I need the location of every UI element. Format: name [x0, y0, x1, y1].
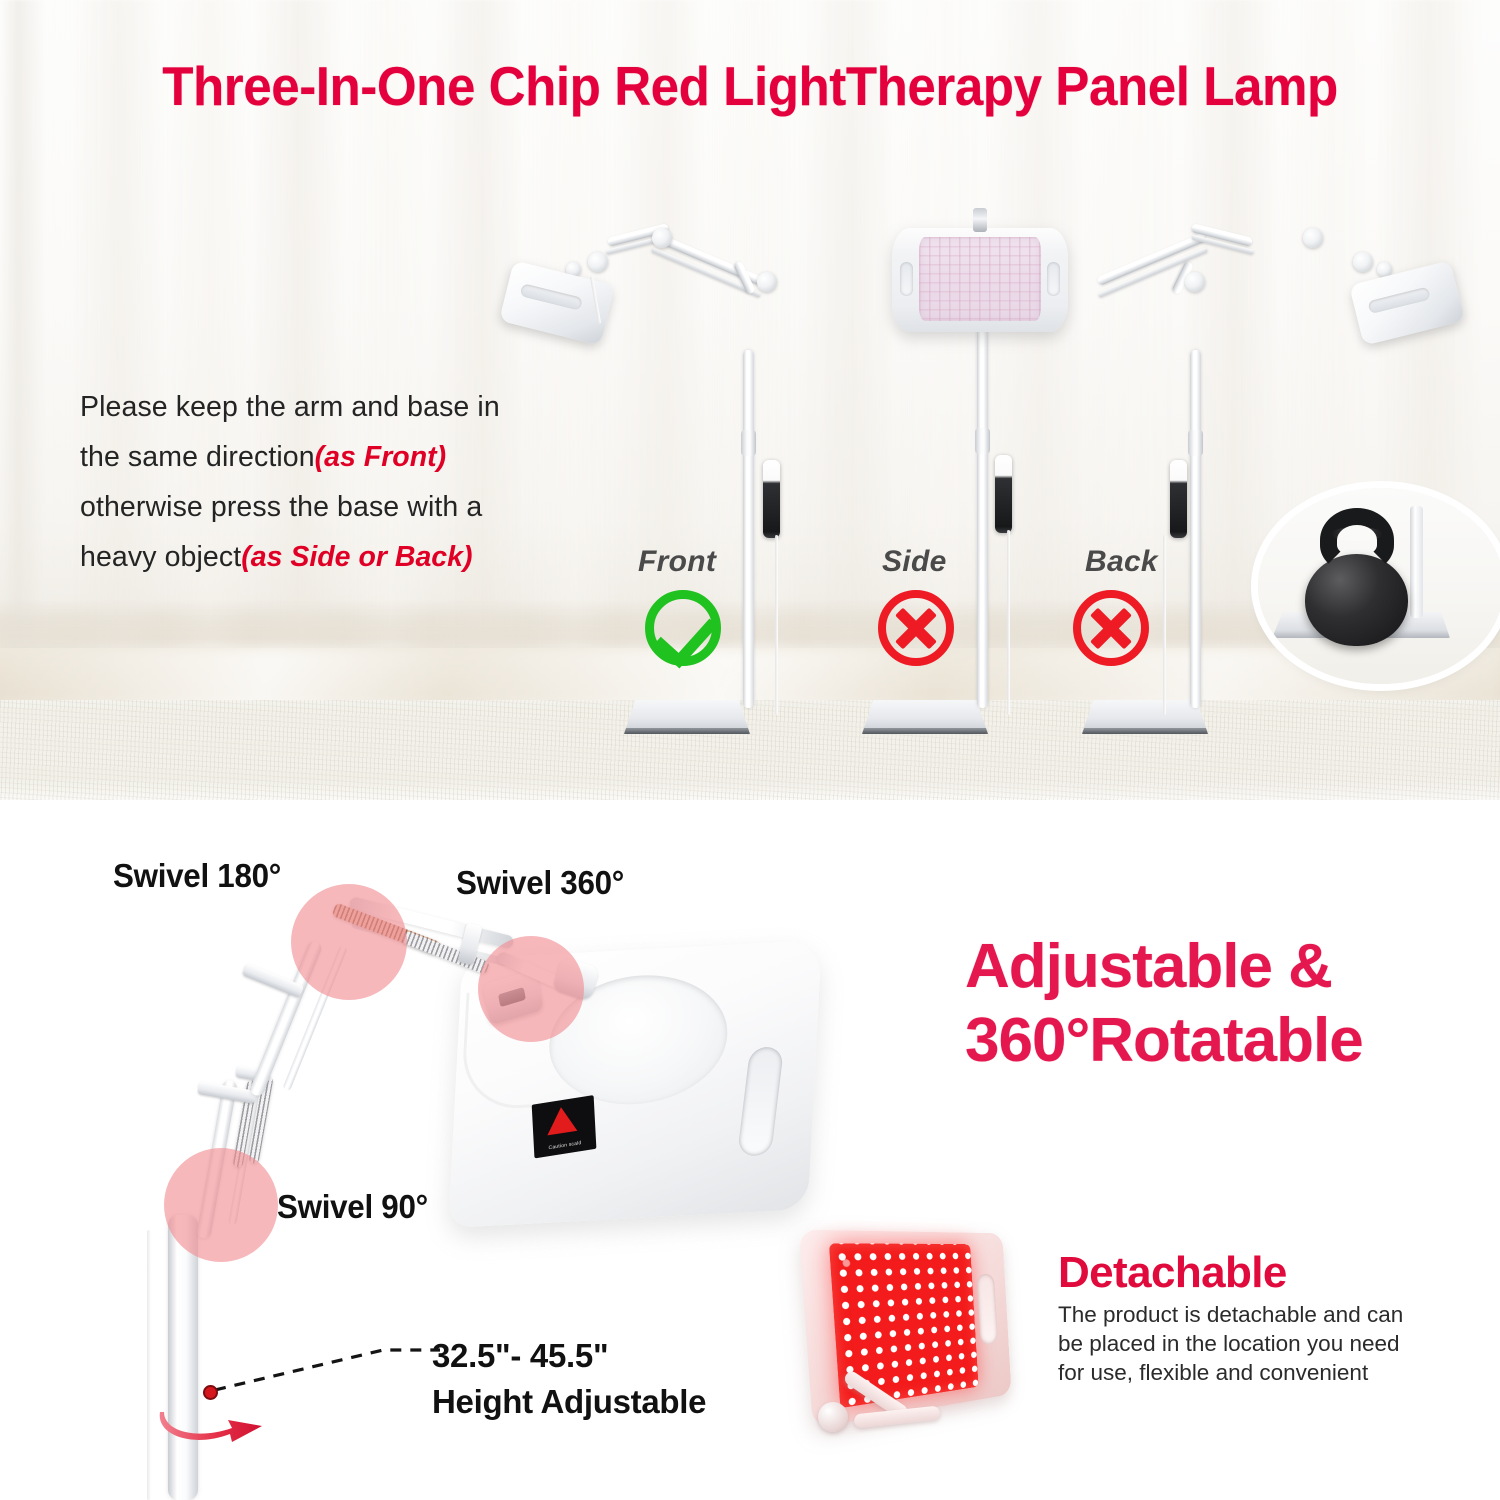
- instruction-line-2: the same direction: [80, 441, 315, 473]
- inline-controller-back: [1170, 460, 1187, 538]
- room-scene: Front Side: [0, 0, 1500, 800]
- leader-line: [215, 1342, 440, 1394]
- kettlebell-inset: [1258, 488, 1500, 684]
- carpet-rug: [0, 700, 1500, 800]
- pole-telescope-joint-side: [975, 428, 990, 454]
- rotation-arrow-icon: [158, 1396, 278, 1444]
- arm-knuckle-elbow-back: [1303, 228, 1323, 248]
- inline-controller-front: [763, 460, 780, 538]
- instruction-line-4: heavy object: [80, 541, 241, 573]
- pole-telescope-joint-back: [1188, 430, 1203, 456]
- panel-handle-slot: [737, 1047, 784, 1156]
- lamp-base-side: [862, 700, 988, 734]
- height-caption: Height Adjustable: [432, 1379, 706, 1425]
- instruction-line-3: otherwise press the base with a: [80, 491, 482, 523]
- feature-heading-line-2: 360°Rotatable: [965, 1004, 1465, 1078]
- led-panel-side: [892, 228, 1068, 332]
- lamp-base-front: [624, 700, 750, 734]
- view-label-front: Front: [638, 545, 716, 579]
- power-cord-front: [775, 535, 778, 715]
- arm-knuckle-wrist: [588, 252, 608, 272]
- power-cord-back: [1163, 535, 1166, 715]
- instruction-emphasis-front: (as Front): [315, 441, 446, 473]
- check-mark-front: [645, 590, 721, 666]
- inset-pole: [1410, 506, 1423, 618]
- height-range: 32.5"- 45.5": [432, 1333, 706, 1379]
- pole-power-cord: [147, 1230, 151, 1500]
- cross-mark-back: [1073, 590, 1149, 666]
- instruction-emphasis-side-back: (as Side or Back): [241, 541, 472, 573]
- detachable-title: Detachable: [1058, 1248, 1287, 1298]
- arm-knuckle-top-back: [1185, 272, 1205, 292]
- led-grid-surface: [919, 237, 1041, 321]
- instruction-line-1: Please keep the arm and base in: [80, 391, 500, 423]
- lamp-base-back: [1082, 700, 1208, 734]
- inline-controller-side: [995, 455, 1012, 533]
- arm-knuckle-wrist-back: [1353, 252, 1373, 272]
- swivel-label-180: Swivel 180°: [113, 857, 281, 895]
- arm-knuckle-top: [757, 272, 777, 292]
- panel-handle-slot-right: [1047, 262, 1060, 296]
- stand-leg-front: [854, 1406, 941, 1429]
- height-callout: 32.5"- 45.5" Height Adjustable: [432, 1333, 706, 1425]
- detachable-description: The product is detachable and can be pla…: [1058, 1300, 1408, 1387]
- feature-heading-line-1: Adjustable &: [965, 930, 1465, 1004]
- swivel-label-360: Swivel 360°: [456, 864, 624, 902]
- panel-yoke: [973, 208, 987, 232]
- stand-pivot-knob: [818, 1402, 848, 1432]
- lamp-pole-front: [743, 350, 754, 708]
- kettlebell-handle: [1320, 508, 1394, 572]
- feature-heading: Adjustable & 360°Rotatable: [965, 930, 1465, 1078]
- warning-triangle-icon: [546, 1105, 577, 1136]
- view-label-side: Side: [882, 545, 947, 579]
- arm-knuckle-elbow: [652, 228, 672, 248]
- page-title: Three-In-One Chip Red LightTherapy Panel…: [53, 54, 1448, 118]
- cross-mark-side: [878, 590, 954, 666]
- caution-label: Caution scald: [532, 1095, 597, 1158]
- swivel-highlight-360: [478, 936, 584, 1042]
- caution-label-text: Caution scald: [537, 1138, 593, 1153]
- adjustable-pole: [168, 1215, 198, 1500]
- panel-handle-slot-left: [900, 262, 913, 296]
- swivel-highlight-90: [164, 1148, 278, 1262]
- swivel-label-90: Swivel 90°: [277, 1188, 428, 1226]
- lamp-pole-back: [1190, 350, 1201, 708]
- detachable-stand: [818, 1382, 934, 1440]
- infographic-page: Front Side: [0, 0, 1500, 1500]
- swivel-highlight-180: [291, 884, 407, 1000]
- view-label-back: Back: [1085, 545, 1158, 579]
- instruction-text: Please keep the arm and base in the same…: [80, 382, 600, 582]
- detachable-handle-slot: [977, 1274, 998, 1345]
- lamp-pole-side: [977, 325, 988, 708]
- detachable-panel-visual: [800, 1232, 1036, 1444]
- power-cord-side: [1007, 530, 1010, 715]
- pole-telescope-joint: [741, 430, 756, 456]
